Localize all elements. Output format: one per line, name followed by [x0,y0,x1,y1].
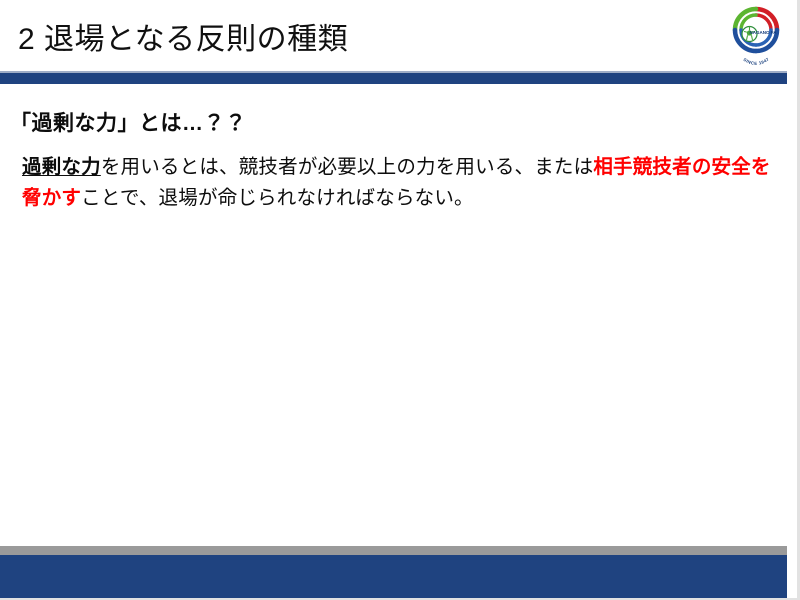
page-title: 2 退場となる反則の種類 [18,22,348,57]
header-accent-bar [0,73,787,84]
slide-canvas: 2 退場となる反則の種類 NAGANO FA SINCE 1947 [0,0,800,600]
footer-accent-bar [0,555,787,598]
body-paragraph: 過剰な力を用いるとは、競技者が必要以上の力を用いる、または相手競技者の安全を脅か… [22,152,784,214]
svg-text:SINCE 1947: SINCE 1947 [742,56,770,65]
section-subheading: 「過剰な力」とは…？？ [10,107,247,137]
keyword-excessive-force: 過剰な力 [22,156,101,178]
nagano-fa-logo: NAGANO FA SINCE 1947 [727,5,785,65]
footer-gray-bar [0,546,787,555]
body-text-part-2: ことで、退場が命じられなければならない。 [81,187,474,209]
body-text-part-1: を用いるとは、競技者が必要以上の力を用いる、または [101,156,594,178]
svg-text:NAGANO FA: NAGANO FA [750,30,778,35]
